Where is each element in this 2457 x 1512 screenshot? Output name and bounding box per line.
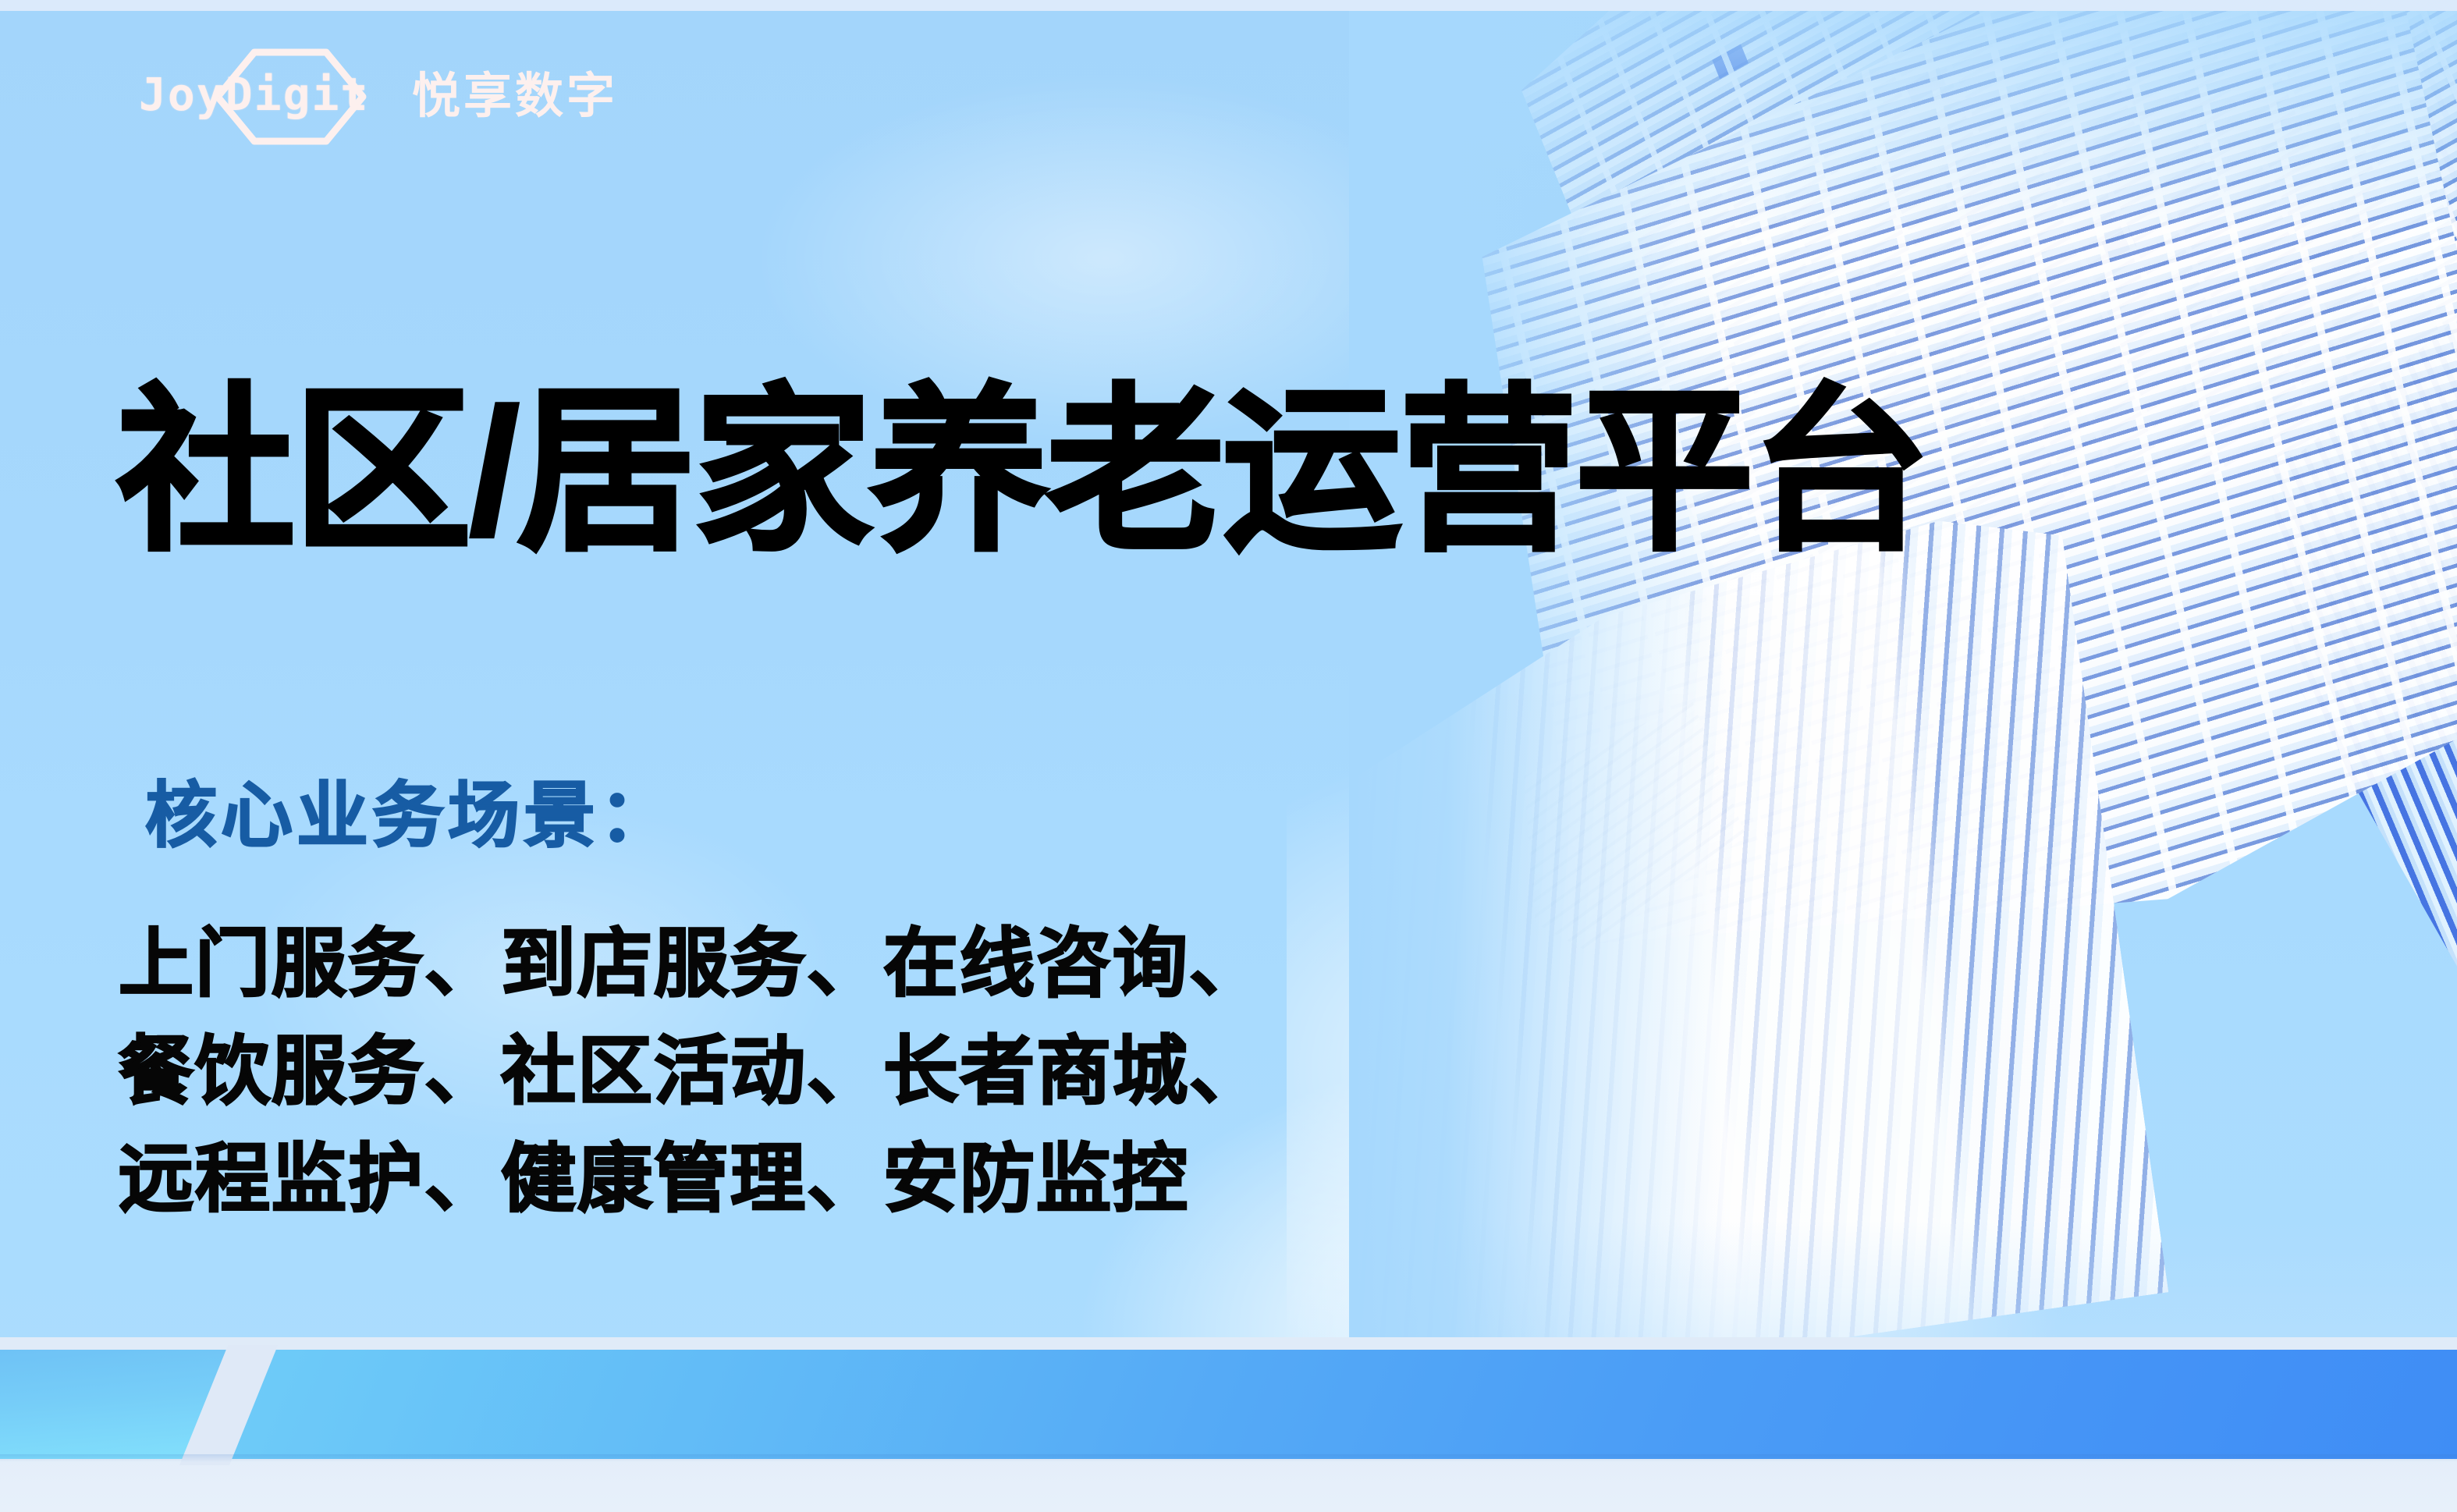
skyscraper-photo-layers	[1349, 11, 2457, 1386]
skyscraper-photo	[1349, 11, 2457, 1386]
scenario-line: 上门服务、到店服务、在线咨询、	[119, 925, 1266, 1004]
curved-facade-tower	[1349, 504, 2168, 1386]
scenario-list: 上门服务、到店服务、在线咨询、 餐饮服务、社区活动、长者商城、 远程监护、健康管…	[119, 925, 1266, 1219]
window-accent	[1712, 44, 1749, 80]
logo-chinese-text: 悦享数字	[412, 73, 618, 121]
logo-mark: JoyDigit	[139, 61, 373, 133]
footer-band	[0, 1337, 2457, 1512]
section-heading: 核心业务场景：	[145, 780, 675, 852]
scenario-line: 远程监护、健康管理、安防监控	[119, 1140, 1266, 1219]
slide-root: JoyDigit 悦享数字 社区/居家养老运营平台 核心业务场景： 上门服务、到…	[0, 0, 2457, 1512]
logo-latin-text: JoyDigit	[139, 72, 369, 117]
page-title: 社区/居家养老运营平台	[117, 367, 1928, 577]
footer-band-shadow	[0, 1454, 2457, 1462]
scenario-line: 餐饮服务、社区活动、长者商城、	[119, 1032, 1266, 1112]
footer-band-main	[0, 1350, 2457, 1459]
top-edge-strip	[0, 0, 2457, 11]
brand-logo[interactable]: JoyDigit 悦享数字	[139, 61, 618, 133]
